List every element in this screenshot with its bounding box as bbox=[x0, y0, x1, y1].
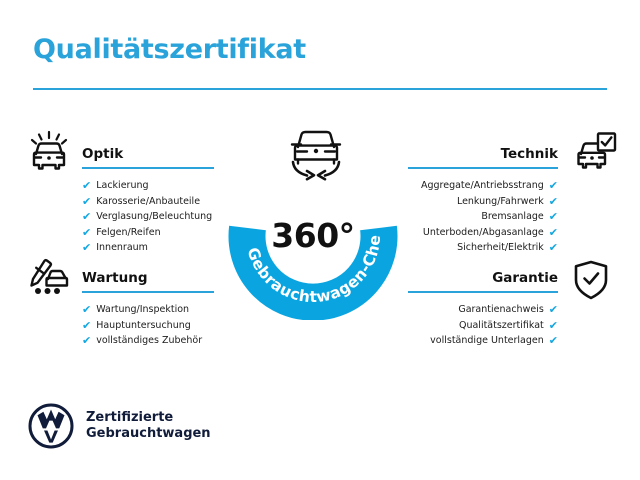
section-garantie: Garantie Garantienachweis✔ Qualitätszert… bbox=[408, 270, 558, 349]
list-item: Unterboden/Abgasanlage✔ bbox=[408, 225, 558, 241]
list-item-label: Lackierung bbox=[96, 178, 148, 194]
car-rotation-icon bbox=[281, 126, 351, 182]
list-item: ✔Lackierung bbox=[82, 178, 214, 194]
footer-line-2: Gebrauchtwagen bbox=[86, 426, 211, 442]
section-divider bbox=[408, 291, 558, 293]
list-item-label: Unterboden/Abgasanlage bbox=[423, 225, 544, 241]
section-heading: Technik bbox=[408, 146, 558, 162]
check-icon: ✔ bbox=[549, 180, 558, 191]
section-items: Aggregate/Antriebsstrang✔ Lenkung/Fahrwe… bbox=[408, 178, 558, 256]
list-item-label: Aggregate/Antriebsstrang bbox=[421, 178, 544, 194]
section-heading: Garantie bbox=[408, 270, 558, 286]
list-item: Aggregate/Antriebsstrang✔ bbox=[408, 178, 558, 194]
list-item: ✔Innenraum bbox=[82, 240, 214, 256]
check-icon: ✔ bbox=[549, 242, 558, 253]
check-icon: ✔ bbox=[82, 242, 91, 253]
vw-logo-icon bbox=[28, 403, 74, 449]
check-icon: ✔ bbox=[82, 304, 91, 315]
list-item: ✔Felgen/Reifen bbox=[82, 225, 214, 241]
list-item: Garantienachweis✔ bbox=[408, 302, 558, 318]
check-icon: ✔ bbox=[549, 211, 558, 222]
section-items: ✔Wartung/Inspektion ✔Hauptuntersuchung ✔… bbox=[82, 302, 214, 349]
list-item-label: Wartung/Inspektion bbox=[96, 302, 189, 318]
list-item-label: Verglasung/Beleuchtung bbox=[96, 209, 212, 225]
footer-brand: Zertifizierte Gebrauchtwagen bbox=[28, 403, 211, 449]
section-divider bbox=[82, 291, 214, 293]
list-item: ✔Wartung/Inspektion bbox=[82, 302, 214, 318]
list-item-label: Bremsanlage bbox=[481, 209, 543, 225]
list-item: Bremsanlage✔ bbox=[408, 209, 558, 225]
list-item: vollständige Unterlagen✔ bbox=[408, 333, 558, 349]
shield-check-icon bbox=[568, 258, 614, 302]
list-item-label: Karosserie/Anbauteile bbox=[96, 194, 200, 210]
check-icon: ✔ bbox=[549, 304, 558, 315]
list-item-label: Hauptuntersuchung bbox=[96, 318, 191, 334]
list-item: ✔vollständiges Zubehör bbox=[82, 333, 214, 349]
list-item-label: Lenkung/Fahrwerk bbox=[457, 194, 544, 210]
section-wartung: Wartung ✔Wartung/Inspektion ✔Hauptunters… bbox=[82, 270, 214, 349]
footer-brand-text: Zertifizierte Gebrauchtwagen bbox=[86, 410, 211, 442]
footer-line-1: Zertifizierte bbox=[86, 410, 211, 426]
title-divider bbox=[33, 88, 607, 90]
list-item-label: vollständige Unterlagen bbox=[430, 333, 544, 349]
section-items: Garantienachweis✔ Qualitätszertifikat✔ v… bbox=[408, 302, 558, 349]
section-heading: Wartung bbox=[82, 270, 214, 286]
list-item: Qualitätszertifikat✔ bbox=[408, 318, 558, 334]
car-checkbox-icon bbox=[572, 130, 618, 174]
section-technik: Technik Aggregate/Antriebsstrang✔ Lenkun… bbox=[408, 146, 558, 256]
check-icon: ✔ bbox=[549, 335, 558, 346]
check-icon: ✔ bbox=[82, 211, 91, 222]
pen-car-service-icon bbox=[26, 254, 72, 298]
section-items: ✔Lackierung ✔Karosserie/Anbauteile ✔Verg… bbox=[82, 178, 214, 256]
list-item-label: Garantienachweis bbox=[458, 302, 543, 318]
section-heading: Optik bbox=[82, 146, 214, 162]
check-icon: ✔ bbox=[549, 196, 558, 207]
list-item-label: Innenraum bbox=[96, 240, 148, 256]
check-icon: ✔ bbox=[549, 227, 558, 238]
list-item-label: Felgen/Reifen bbox=[96, 225, 160, 241]
check-icon: ✔ bbox=[549, 320, 558, 331]
car-shine-icon bbox=[26, 130, 72, 174]
section-divider bbox=[408, 167, 558, 169]
list-item: ✔Hauptuntersuchung bbox=[82, 318, 214, 334]
list-item-label: Sicherheit/Elektrik bbox=[457, 240, 544, 256]
section-optik: Optik ✔Lackierung ✔Karosserie/Anbauteile… bbox=[82, 146, 214, 256]
list-item: ✔Verglasung/Beleuchtung bbox=[82, 209, 214, 225]
check-icon: ✔ bbox=[82, 320, 91, 331]
check-icon: ✔ bbox=[82, 227, 91, 238]
check-icon: ✔ bbox=[82, 335, 91, 346]
list-item-label: vollständiges Zubehör bbox=[96, 333, 202, 349]
list-item: Sicherheit/Elektrik✔ bbox=[408, 240, 558, 256]
list-item: Lenkung/Fahrwerk✔ bbox=[408, 194, 558, 210]
list-item-label: Qualitätszertifikat bbox=[459, 318, 544, 334]
check-icon: ✔ bbox=[82, 196, 91, 207]
check-icon: ✔ bbox=[82, 180, 91, 191]
section-divider bbox=[82, 167, 214, 169]
page-title: Qualitätszertifikat bbox=[33, 34, 306, 65]
list-item: ✔Karosserie/Anbauteile bbox=[82, 194, 214, 210]
